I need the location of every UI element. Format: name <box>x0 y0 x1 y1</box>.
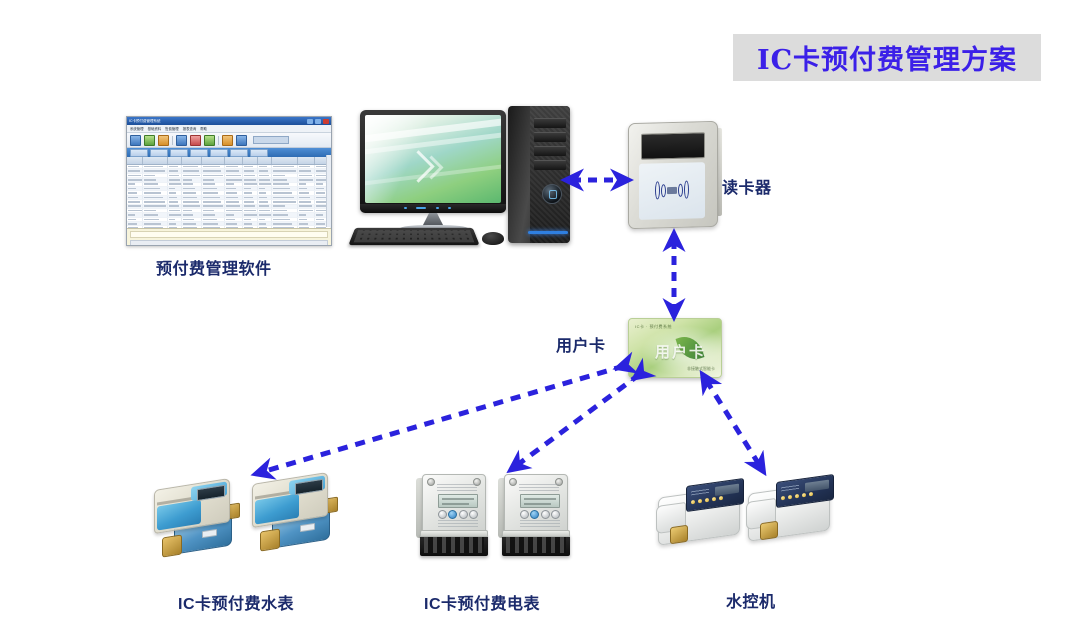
table-cell <box>225 174 243 177</box>
table-cell <box>272 222 298 225</box>
electric-meter-button[interactable] <box>448 510 457 519</box>
table-cell <box>182 222 202 225</box>
water-controller-icon-2 <box>746 474 842 548</box>
table-cell <box>143 165 167 168</box>
software-tabbar[interactable] <box>127 148 331 157</box>
table-cell <box>143 191 167 194</box>
new-record-icon[interactable] <box>130 135 141 146</box>
table-cell <box>258 213 273 216</box>
table-cell <box>272 191 298 194</box>
table-cell <box>243 213 258 216</box>
table-cell <box>127 174 143 177</box>
table-cell <box>258 165 273 168</box>
menu-item-4[interactable]: 帮助 <box>200 126 207 131</box>
water-controller-display-2 <box>805 480 829 492</box>
pc-tower-icon <box>508 106 570 243</box>
arrow-card-water-meter <box>262 366 624 472</box>
water-controller-icon <box>656 478 752 552</box>
electric-meter-icon-2 <box>498 472 576 564</box>
table-cell <box>168 165 183 168</box>
table-cell <box>243 222 258 225</box>
table-cell <box>272 169 298 172</box>
card-bottom-text: 非接触式智能卡 <box>687 366 715 372</box>
table-cell <box>225 218 243 221</box>
table-cell <box>182 174 202 177</box>
table-cell <box>182 191 202 194</box>
table-cell <box>202 209 224 212</box>
grid-vertical-scrollbar[interactable] <box>326 155 331 227</box>
save-icon[interactable] <box>144 135 155 146</box>
table-cell <box>143 169 167 172</box>
menu-item-1[interactable]: 基础资料 <box>148 126 162 131</box>
data-grid-body[interactable] <box>127 165 331 233</box>
tab-user-archive[interactable] <box>130 149 148 157</box>
table-cell <box>243 191 258 194</box>
table-cell <box>202 187 224 190</box>
table-cell <box>258 196 273 199</box>
software-label: 预付费管理软件 <box>156 255 272 279</box>
monitor-icon <box>360 110 506 212</box>
table-cell <box>143 209 167 212</box>
table-cell <box>225 183 243 186</box>
table-cell <box>298 169 314 172</box>
table-cell <box>168 174 183 177</box>
diagram-canvas: IC卡预付费管理方案 IC卡预付费管理系统 系统管理 基础资料 售费管理 报表查… <box>0 0 1066 640</box>
card-top-text: IC卡 · 预付费系统 <box>635 324 672 330</box>
table-cell <box>258 187 273 190</box>
table-cell <box>272 183 298 186</box>
electric-meter-display <box>438 494 478 508</box>
table-cell <box>258 205 273 208</box>
table-cell <box>298 218 314 221</box>
table-cell <box>127 200 143 203</box>
table-cell <box>202 196 224 199</box>
tab-water-sale[interactable] <box>150 149 168 157</box>
table-cell <box>225 209 243 212</box>
table-cell <box>202 205 224 208</box>
table-cell <box>182 165 202 168</box>
table-cell <box>225 205 243 208</box>
water-meter-icon <box>150 478 246 564</box>
reader-display <box>641 132 705 160</box>
table-cell <box>202 165 224 168</box>
status-input-row[interactable] <box>130 231 328 238</box>
table-cell <box>225 178 243 181</box>
table-cell <box>243 209 258 212</box>
monitor-bezel-bottom <box>360 204 506 213</box>
table-cell <box>182 183 202 186</box>
electric-meter-label: IC卡预付费电表 <box>424 590 540 614</box>
table-cell <box>127 165 143 168</box>
table-cell <box>243 196 258 199</box>
table-cell <box>168 213 183 216</box>
table-cell <box>182 169 202 172</box>
table-cell <box>168 187 183 190</box>
table-cell <box>298 200 314 203</box>
table-cell <box>143 213 167 216</box>
table-cell <box>272 200 298 203</box>
table-cell <box>272 196 298 199</box>
table-cell <box>127 213 143 216</box>
user-card-label: 用户卡 <box>556 332 606 356</box>
table-cell <box>127 205 143 208</box>
maximize-button[interactable] <box>315 119 321 124</box>
refresh-icon[interactable] <box>204 135 215 146</box>
table-cell <box>168 169 183 172</box>
table-cell <box>243 174 258 177</box>
export-icon[interactable] <box>222 135 233 146</box>
table-cell <box>182 213 202 216</box>
table-cell <box>182 196 202 199</box>
software-toolbar[interactable] <box>127 133 331 148</box>
table-cell <box>143 222 167 225</box>
table-cell <box>182 209 202 212</box>
table-cell <box>225 196 243 199</box>
data-grid-header <box>127 157 331 165</box>
table-cell <box>182 200 202 203</box>
search-icon[interactable] <box>176 135 187 146</box>
menu-item-3[interactable]: 报表查询 <box>183 126 197 131</box>
table-cell <box>298 178 314 181</box>
table-cell <box>225 200 243 203</box>
table-cell <box>272 174 298 177</box>
table-cell <box>225 187 243 190</box>
table-cell <box>272 165 298 168</box>
reader-touch-panel[interactable] <box>639 162 705 220</box>
table-cell <box>225 169 243 172</box>
table-cell <box>127 196 143 199</box>
table-cell <box>127 222 143 225</box>
close-button[interactable] <box>323 119 329 124</box>
tab-report[interactable] <box>250 149 268 157</box>
table-cell <box>127 218 143 221</box>
tab-refund[interactable] <box>230 149 248 157</box>
card-face-text: 用户卡 <box>655 341 706 362</box>
menu-item-2[interactable]: 售费管理 <box>165 126 179 131</box>
water-controller-label: 水控机 <box>726 588 776 612</box>
table-cell <box>202 169 224 172</box>
table-cell <box>202 218 224 221</box>
title-text: IC卡预付费管理方案 <box>757 38 1017 77</box>
table-cell <box>127 209 143 212</box>
table-cell <box>202 222 224 225</box>
table-cell <box>272 187 298 190</box>
table-cell <box>143 196 167 199</box>
table-cell <box>168 205 183 208</box>
minimize-button[interactable] <box>307 119 313 124</box>
table-cell <box>272 178 298 181</box>
table-cell <box>298 187 314 190</box>
table-cell <box>182 187 202 190</box>
table-cell <box>298 205 314 208</box>
toolbar-search-field[interactable] <box>253 136 289 144</box>
toolbar-divider <box>172 136 173 145</box>
table-cell <box>202 183 224 186</box>
table-cell <box>258 178 273 181</box>
prepaid-software-window: IC卡预付费管理系统 系统管理 基础资料 售费管理 报表查询 帮助 <box>126 116 332 246</box>
table-cell <box>243 183 258 186</box>
table-cell <box>272 205 298 208</box>
mouse-icon <box>482 232 504 245</box>
table-cell <box>143 178 167 181</box>
table-cell <box>182 218 202 221</box>
table-cell <box>272 218 298 221</box>
table-cell <box>143 218 167 221</box>
table-cell <box>298 191 314 194</box>
table-cell <box>168 209 183 212</box>
monitor-screen <box>365 115 501 203</box>
rfid-wave-icon <box>655 181 689 200</box>
keyboard-icon <box>348 228 479 245</box>
table-cell <box>243 187 258 190</box>
table-cell <box>298 209 314 212</box>
table-cell <box>258 174 273 177</box>
status-text-row <box>130 240 328 246</box>
table-cell <box>258 209 273 212</box>
table-cell <box>182 205 202 208</box>
electric-meter-display-2 <box>520 494 560 508</box>
table-cell <box>243 218 258 221</box>
electric-meter-button-2[interactable] <box>530 510 539 519</box>
software-statusbar <box>127 228 331 245</box>
table-cell <box>168 183 183 186</box>
table-cell <box>202 178 224 181</box>
table-cell <box>143 183 167 186</box>
table-cell <box>298 196 314 199</box>
tab-fee-query[interactable] <box>190 149 208 157</box>
table-cell <box>168 222 183 225</box>
table-cell <box>127 191 143 194</box>
card-reader-icon <box>628 122 718 228</box>
tab-power-sale[interactable] <box>170 149 188 157</box>
power-button-icon[interactable] <box>542 184 562 204</box>
table-cell <box>272 213 298 216</box>
table-cell <box>168 196 183 199</box>
table-cell <box>225 165 243 168</box>
table-cell <box>168 191 183 194</box>
table-cell <box>258 218 273 221</box>
table-cell <box>202 213 224 216</box>
card-reader-label: 读卡器 <box>722 174 772 198</box>
water-meter-icon-2 <box>248 472 344 558</box>
table-cell <box>243 169 258 172</box>
arrow-card-electric-meter <box>516 374 640 466</box>
software-window-title: IC卡预付费管理系统 <box>129 119 305 124</box>
table-cell <box>127 169 143 172</box>
table-cell <box>258 169 273 172</box>
water-controller-display <box>715 484 739 496</box>
table-cell <box>127 183 143 186</box>
arrow-card-water-controller <box>706 380 760 466</box>
table-cell <box>143 174 167 177</box>
table-cell <box>168 200 183 203</box>
desktop-computer <box>352 104 580 250</box>
tab-card-replace[interactable] <box>210 149 228 157</box>
table-cell <box>143 205 167 208</box>
status-led-row-2 <box>781 492 813 500</box>
table-cell <box>225 213 243 216</box>
table-cell <box>127 187 143 190</box>
table-cell <box>272 209 298 212</box>
table-cell <box>182 178 202 181</box>
user-card-icon: IC卡 · 预付费系统 用户卡 非接触式智能卡 <box>628 318 722 378</box>
table-cell <box>298 213 314 216</box>
table-cell <box>243 165 258 168</box>
table-cell <box>143 187 167 190</box>
user-icon[interactable] <box>236 135 247 146</box>
table-cell <box>168 178 183 181</box>
table-cell <box>168 218 183 221</box>
table-cell <box>243 178 258 181</box>
table-cell <box>127 178 143 181</box>
delete-icon[interactable] <box>190 135 201 146</box>
status-led-row <box>691 496 723 504</box>
table-cell <box>258 191 273 194</box>
menu-item-0[interactable]: 系统管理 <box>130 126 144 131</box>
table-cell <box>258 200 273 203</box>
table-cell <box>258 183 273 186</box>
print-icon[interactable] <box>158 135 169 146</box>
table-cell <box>202 191 224 194</box>
toolbar-divider-2 <box>218 136 219 145</box>
electric-meter-icon <box>416 472 494 564</box>
table-cell <box>243 205 258 208</box>
table-cell <box>243 200 258 203</box>
software-menubar[interactable]: 系统管理 基础资料 售费管理 报表查询 帮助 <box>127 125 331 133</box>
table-cell <box>143 200 167 203</box>
table-cell <box>225 222 243 225</box>
table-cell <box>298 165 314 168</box>
table-cell <box>258 222 273 225</box>
software-titlebar: IC卡预付费管理系统 <box>127 117 331 125</box>
table-cell <box>298 183 314 186</box>
table-cell <box>298 174 314 177</box>
table-cell <box>225 191 243 194</box>
title-banner: IC卡预付费管理方案 <box>733 34 1041 81</box>
table-cell <box>202 174 224 177</box>
table-cell <box>298 222 314 225</box>
water-meter-label: IC卡预付费水表 <box>178 590 294 614</box>
table-cell <box>202 200 224 203</box>
